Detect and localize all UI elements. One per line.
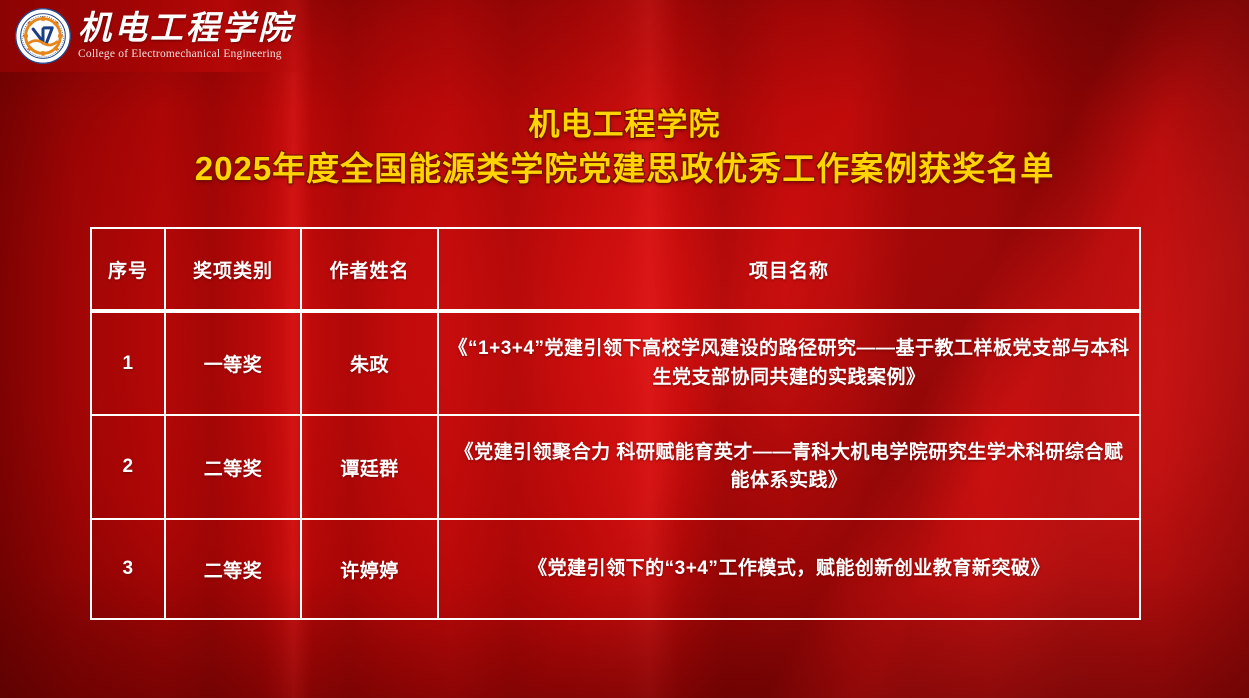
table-row: 2 二等奖 谭廷群 《党建引领聚合力 科研赋能育英才——青科大机电学院研究生学术… [91, 415, 1140, 519]
cell-author: 谭廷群 [301, 415, 438, 519]
cell-project: 《党建引领下的“3+4”工作模式，赋能创新创业教育新突破》 [438, 519, 1140, 619]
table-header-award: 奖项类别 [165, 228, 301, 311]
cell-award: 二等奖 [165, 519, 301, 619]
college-logo-text: 机电工程学院 College of Electromechanical Engi… [78, 12, 294, 61]
table-row: 1 一等奖 朱政 《“1+3+4”党建引领下高校学风建设的路径研究——基于教工样… [91, 311, 1140, 415]
slide-canvas: 机电工程学院 College of Electromechanical Engi… [0, 0, 1249, 698]
table-header-no: 序号 [91, 228, 165, 311]
slide-title-block: 机电工程学院 2025年度全国能源类学院党建思政优秀工作案例获奖名单 [0, 106, 1249, 189]
table-row: 3 二等奖 许婷婷 《党建引领下的“3+4”工作模式，赋能创新创业教育新突破》 [91, 519, 1140, 619]
table-header-row: 序号 奖项类别 作者姓名 项目名称 [91, 228, 1140, 311]
cell-no: 2 [91, 415, 165, 519]
cell-author: 朱政 [301, 311, 438, 415]
page-title-line1: 机电工程学院 [0, 106, 1249, 144]
cell-no: 3 [91, 519, 165, 619]
award-list-table: 序号 奖项类别 作者姓名 项目名称 1 一等奖 朱政 《“1+3+4”党建引领下… [90, 227, 1141, 620]
college-logo-bar: 机电工程学院 College of Electromechanical Engi… [0, 0, 314, 72]
cell-no: 1 [91, 311, 165, 415]
college-emblem-icon [14, 7, 72, 65]
college-name-en: College of Electromechanical Engineering [78, 48, 294, 60]
cell-project: 《“1+3+4”党建引领下高校学风建设的路径研究——基于教工样板党支部与本科生党… [438, 311, 1140, 415]
college-name-cn: 机电工程学院 [78, 12, 294, 47]
cell-project: 《党建引领聚合力 科研赋能育英才——青科大机电学院研究生学术科研综合赋能体系实践… [438, 415, 1140, 519]
award-list-table-wrapper: 序号 奖项类别 作者姓名 项目名称 1 一等奖 朱政 《“1+3+4”党建引领下… [90, 227, 1141, 620]
table-header-project: 项目名称 [438, 228, 1140, 311]
cell-author: 许婷婷 [301, 519, 438, 619]
cell-award: 一等奖 [165, 311, 301, 415]
page-title-line2: 2025年度全国能源类学院党建思政优秀工作案例获奖名单 [0, 149, 1249, 189]
cell-award: 二等奖 [165, 415, 301, 519]
table-header-author: 作者姓名 [301, 228, 438, 311]
